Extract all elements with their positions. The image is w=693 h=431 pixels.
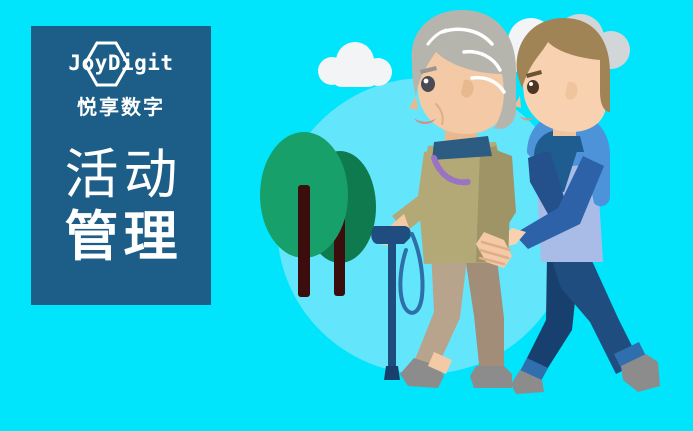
poster-canvas: JoyDigit 悦享数字 活动 管理 bbox=[0, 0, 693, 431]
youth-collar bbox=[545, 136, 584, 152]
info-panel: JoyDigit 悦享数字 活动 管理 bbox=[31, 26, 211, 305]
youth-eye-highlight bbox=[529, 82, 533, 86]
brand-block: JoyDigit 悦享数字 bbox=[31, 40, 211, 119]
illustration-scene bbox=[228, 0, 693, 431]
headline-line-1: 活动 bbox=[31, 144, 211, 206]
headline: 活动 管理 bbox=[31, 144, 211, 268]
elder-eye bbox=[421, 76, 435, 92]
elder-shoe-far bbox=[470, 366, 512, 388]
headline-line-2: 管理 bbox=[31, 206, 211, 268]
cane-tip bbox=[384, 366, 400, 380]
logo-mark: JoyDigit bbox=[46, 40, 196, 88]
cane-shaft bbox=[388, 240, 396, 376]
logo-wordmark: JoyDigit bbox=[46, 51, 196, 75]
cloud-left bbox=[318, 42, 392, 87]
brand-chinese-name: 悦享数字 bbox=[31, 95, 211, 119]
youth-eye bbox=[527, 80, 539, 94]
elder-eye-highlight bbox=[424, 79, 429, 84]
